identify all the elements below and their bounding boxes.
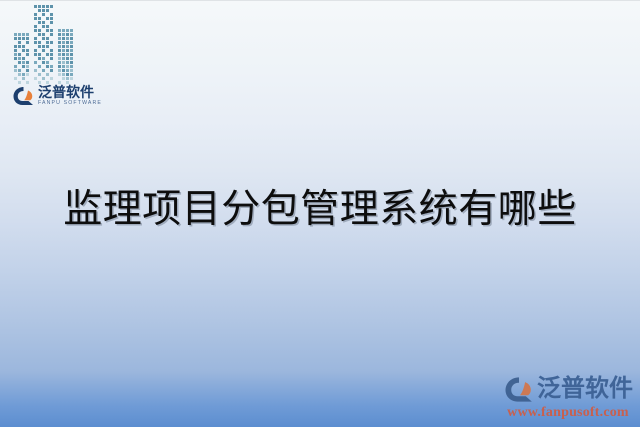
skyline-pixel — [58, 57, 61, 60]
skyline-pixel — [42, 77, 45, 80]
skyline-pixel — [42, 17, 45, 20]
skyline-pixel — [18, 53, 21, 56]
skyline-pixel — [42, 61, 45, 64]
skyline-pixel — [58, 49, 61, 52]
skyline-pixel — [34, 13, 37, 16]
skyline-pixel — [66, 29, 69, 32]
skyline-pixel — [22, 65, 25, 68]
skyline-pixel — [66, 73, 69, 76]
skyline-pixel — [66, 33, 69, 36]
skyline-pixel — [22, 81, 25, 84]
skyline-pixel — [34, 73, 37, 76]
skyline-pixel — [22, 41, 25, 44]
skyline-pixel — [50, 29, 53, 32]
skyline-pixel — [34, 17, 37, 20]
skyline-pixel — [50, 17, 53, 20]
skyline-pixel — [50, 25, 53, 28]
skyline-pixel — [58, 29, 61, 32]
skyline-pixel — [46, 9, 49, 12]
skyline-pixel — [46, 37, 49, 40]
skyline-pixel — [18, 49, 21, 52]
skyline-pixel — [58, 45, 61, 48]
skyline-tower-right — [58, 29, 76, 84]
skyline-pixel — [50, 13, 53, 16]
skyline-pixel — [70, 37, 73, 40]
skyline-pixel — [70, 53, 73, 56]
skyline-pixel — [26, 65, 29, 68]
skyline-pixel — [42, 49, 45, 52]
skyline-pixel — [18, 77, 21, 80]
fanpu-logo-icon — [13, 86, 34, 106]
skyline-pixel — [18, 69, 21, 72]
skyline-pixel — [42, 53, 45, 56]
skyline-pixel — [58, 33, 61, 36]
skyline-pixel — [46, 13, 49, 16]
skyline-pixel — [42, 13, 45, 16]
skyline-pixel — [58, 61, 61, 64]
skyline-pixel — [70, 73, 73, 76]
pixel-skyline-icon — [14, 28, 72, 84]
skyline-pixel — [14, 65, 17, 68]
skyline-pixel — [46, 69, 49, 72]
skyline-pixel — [50, 21, 53, 24]
skyline-pixel — [34, 9, 37, 12]
skyline-pixel — [38, 41, 41, 44]
skyline-pixel — [46, 65, 49, 68]
skyline-pixel — [26, 81, 29, 84]
skyline-pixel — [14, 45, 17, 48]
skyline-pixel — [38, 33, 41, 36]
skyline-pixel — [70, 49, 73, 52]
skyline-pixel — [38, 57, 41, 60]
skyline-pixel — [14, 57, 17, 60]
skyline-pixel — [34, 61, 37, 64]
skyline-pixel — [66, 65, 69, 68]
skyline-pixel — [42, 45, 45, 48]
skyline-pixel — [62, 45, 65, 48]
skyline-pixel — [70, 61, 73, 64]
skyline-pixel — [46, 53, 49, 56]
skyline-pixel — [46, 61, 49, 64]
skyline-pixel — [34, 37, 37, 40]
skyline-pixel — [34, 29, 37, 32]
skyline-pixel — [38, 77, 41, 80]
brand-logo: 泛普软件 FANPU SOFTWARE — [13, 85, 102, 107]
skyline-pixel — [62, 29, 65, 32]
skyline-pixel — [14, 61, 17, 64]
skyline-pixel — [14, 69, 17, 72]
skyline-pixel — [34, 81, 37, 84]
skyline-pixel — [26, 61, 29, 64]
skyline-pixel — [34, 49, 37, 52]
skyline-pixel — [50, 41, 53, 44]
skyline-pixel — [14, 81, 17, 84]
skyline-pixel — [14, 49, 17, 52]
skyline-pixel — [50, 53, 53, 56]
skyline-pixel — [70, 57, 73, 60]
skyline-pixel — [50, 9, 53, 12]
fanpu-logo-icon — [502, 376, 536, 403]
skyline-pixel — [14, 73, 17, 76]
skyline-pixel — [58, 41, 61, 44]
skyline-pixel — [62, 77, 65, 80]
skyline-pixel — [38, 45, 41, 48]
skyline-pixel — [14, 41, 17, 44]
skyline-pixel — [42, 29, 45, 32]
skyline-pixel — [38, 61, 41, 64]
skyline-pixel — [42, 73, 45, 76]
skyline-pixel — [22, 69, 25, 72]
brand-name-cn: 泛普软件 — [38, 85, 102, 99]
skyline-pixel — [70, 77, 73, 80]
skyline-pixel — [66, 45, 69, 48]
skyline-pixel — [42, 25, 45, 28]
skyline-pixel — [46, 25, 49, 28]
skyline-pixel — [14, 33, 17, 36]
skyline-pixel — [26, 77, 29, 80]
skyline-pixel — [50, 57, 53, 60]
skyline-pixel — [38, 21, 41, 24]
skyline-pixel — [58, 77, 61, 80]
skyline-pixel — [58, 53, 61, 56]
skyline-pixel — [38, 25, 41, 28]
skyline-pixel — [18, 73, 21, 76]
skyline-pixel — [42, 41, 45, 44]
skyline-pixel — [42, 5, 45, 8]
skyline-pixel — [66, 57, 69, 60]
skyline-pixel — [58, 73, 61, 76]
skyline-pixel — [22, 57, 25, 60]
watermark-logo-row: 泛普软件 — [502, 374, 634, 404]
skyline-pixel — [66, 49, 69, 52]
skyline-pixel — [62, 49, 65, 52]
skyline-pixel — [34, 69, 37, 72]
skyline-pixel — [26, 33, 29, 36]
skyline-pixel — [34, 77, 37, 80]
skyline-pixel — [66, 53, 69, 56]
skyline-pixel — [22, 49, 25, 52]
skyline-pixel — [18, 37, 21, 40]
skyline-pixel — [34, 33, 37, 36]
skyline-tower-left — [14, 33, 32, 84]
skyline-pixel — [70, 41, 73, 44]
skyline-pixel — [38, 37, 41, 40]
skyline-pixel — [62, 37, 65, 40]
skyline-pixel — [22, 73, 25, 76]
skyline-pixel — [66, 41, 69, 44]
skyline-pixel — [34, 25, 37, 28]
brand-name-en: FANPU SOFTWARE — [38, 101, 102, 106]
skyline-pixel — [26, 41, 29, 44]
skyline-pixel — [38, 69, 41, 72]
skyline-pixel — [38, 73, 41, 76]
skyline-pixel — [38, 53, 41, 56]
skyline-pixel — [38, 49, 41, 52]
skyline-pixel — [70, 33, 73, 36]
skyline-pixel — [46, 49, 49, 52]
skyline-pixel — [46, 45, 49, 48]
skyline-pixel — [38, 65, 41, 68]
skyline-pixel — [26, 69, 29, 72]
skyline-pixel — [66, 61, 69, 64]
skyline-pixel — [18, 65, 21, 68]
skyline-pixel — [26, 57, 29, 60]
skyline-pixel — [62, 57, 65, 60]
skyline-pixel — [50, 69, 53, 72]
skyline-pixel — [18, 61, 21, 64]
skyline-pixel — [34, 45, 37, 48]
skyline-pixel — [38, 13, 41, 16]
skyline-pixel — [50, 77, 53, 80]
skyline-pixel — [66, 69, 69, 72]
skyline-pixel — [42, 65, 45, 68]
skyline-pixel — [62, 33, 65, 36]
skyline-pixel — [22, 61, 25, 64]
skyline-pixel — [50, 61, 53, 64]
skyline-pixel — [22, 37, 25, 40]
skyline-pixel — [34, 41, 37, 44]
skyline-pixel — [26, 45, 29, 48]
skyline-pixel — [42, 69, 45, 72]
skyline-pixel — [18, 57, 21, 60]
skyline-pixel — [26, 73, 29, 76]
brand-text-block: 泛普软件 FANPU SOFTWARE — [38, 85, 102, 106]
skyline-pixel — [42, 9, 45, 12]
skyline-pixel — [26, 49, 29, 52]
skyline-pixel — [38, 9, 41, 12]
skyline-pixel — [42, 33, 45, 36]
skyline-pixel — [70, 45, 73, 48]
skyline-pixel — [42, 57, 45, 60]
skyline-pixel — [58, 69, 61, 72]
skyline-pixel — [34, 5, 37, 8]
skyline-pixel — [50, 73, 53, 76]
skyline-pixel — [50, 65, 53, 68]
skyline-pixel — [34, 65, 37, 68]
skyline-pixel — [26, 37, 29, 40]
skyline-pixel — [62, 65, 65, 68]
watermark-url: www.fanpusoft.com — [502, 405, 634, 421]
skyline-pixel — [70, 29, 73, 32]
skyline-pixel — [22, 77, 25, 80]
skyline-pixel — [50, 37, 53, 40]
skyline-pixel — [50, 49, 53, 52]
skyline-pixel — [26, 53, 29, 56]
skyline-pixel — [62, 41, 65, 44]
skyline-pixel — [46, 5, 49, 8]
skyline-pixel — [70, 65, 73, 68]
skyline-pixel — [14, 53, 17, 56]
skyline-pixel — [38, 17, 41, 20]
watermark-name-cn: 泛普软件 — [537, 377, 633, 401]
skyline-pixel — [42, 37, 45, 40]
skyline-pixel — [38, 5, 41, 8]
page-title: 监理项目分包管理系统有哪些 — [0, 187, 640, 233]
skyline-pixel — [22, 45, 25, 48]
skyline-pixel — [70, 69, 73, 72]
skyline-pixel — [34, 21, 37, 24]
skyline-pixel — [58, 65, 61, 68]
skyline-pixel — [22, 53, 25, 56]
skyline-pixel — [18, 41, 21, 44]
skyline-pixel — [58, 37, 61, 40]
skyline-pixel — [50, 45, 53, 48]
skyline-pixel — [14, 37, 17, 40]
skyline-pixel — [34, 57, 37, 60]
skyline-pixel — [46, 57, 49, 60]
skyline-pixel — [62, 61, 65, 64]
skyline-pixel — [46, 33, 49, 36]
skyline-pixel — [62, 53, 65, 56]
slide-canvas: 泛普软件 FANPU SOFTWARE 监理项目分包管理系统有哪些 泛普软件 w… — [0, 0, 640, 427]
skyline-pixel — [46, 21, 49, 24]
skyline-pixel — [62, 69, 65, 72]
skyline-pixel — [66, 77, 69, 80]
skyline-pixel — [34, 53, 37, 56]
skyline-pixel — [46, 77, 49, 80]
skyline-pixel — [18, 45, 21, 48]
skyline-pixel — [42, 21, 45, 24]
skyline-pixel — [38, 29, 41, 32]
skyline-pixel — [18, 81, 21, 84]
skyline-pixel — [46, 29, 49, 32]
skyline-pixel — [50, 5, 53, 8]
watermark: 泛普软件 www.fanpusoft.com — [502, 374, 634, 421]
skyline-pixel — [22, 33, 25, 36]
skyline-tower-center — [34, 5, 56, 84]
skyline-pixel — [50, 33, 53, 36]
skyline-pixel — [14, 77, 17, 80]
skyline-pixel — [46, 17, 49, 20]
skyline-pixel — [46, 41, 49, 44]
skyline-pixel — [46, 73, 49, 76]
skyline-pixel — [66, 37, 69, 40]
skyline-pixel — [62, 73, 65, 76]
skyline-pixel — [18, 33, 21, 36]
